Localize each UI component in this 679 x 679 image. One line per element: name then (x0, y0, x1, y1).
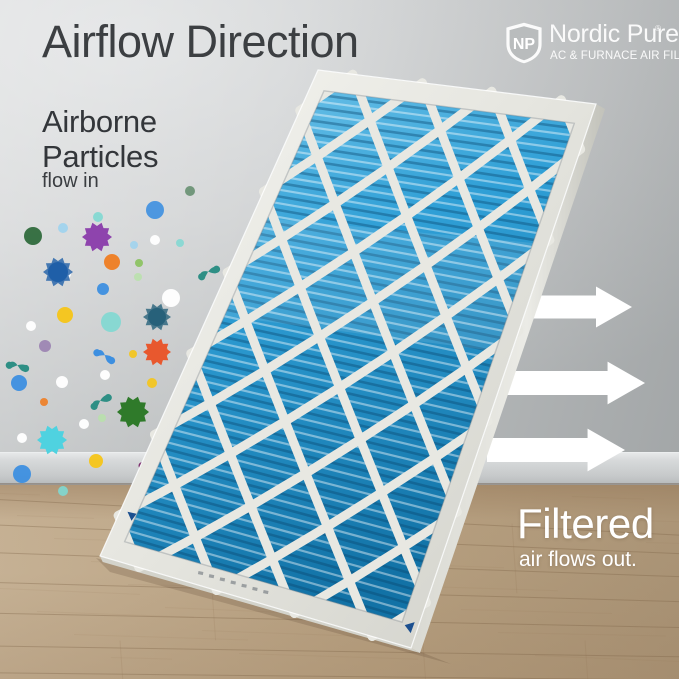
airborne-particles-line1: Airborne (42, 104, 158, 139)
spiky-germ (80, 220, 114, 254)
particle-dot (79, 419, 89, 429)
particle-dot (134, 273, 142, 281)
particle-dot (98, 414, 106, 422)
airflow-arrow (520, 282, 632, 332)
particle-dot (135, 259, 143, 267)
particle-dot (40, 398, 48, 406)
particle-dot (101, 312, 121, 332)
particle-dot (39, 340, 51, 352)
spiky-germ (141, 336, 173, 368)
svg-text:NP: NP (513, 36, 536, 53)
airborne-particles-line2: Particles (42, 139, 158, 174)
particle-dot (58, 486, 68, 496)
particle-dot (24, 227, 42, 245)
particle-dot (146, 201, 164, 219)
particle-dot (100, 370, 110, 380)
filtered-label: Filtered (517, 500, 654, 548)
airflow-arrow (487, 424, 625, 476)
particle-dot (89, 454, 103, 468)
registered-mark-icon: ® (655, 24, 661, 33)
particle-dot (104, 254, 120, 270)
shield-icon: NP (505, 22, 543, 64)
particle-dot (17, 433, 27, 443)
particle-dot (130, 241, 138, 249)
particle-dot (58, 223, 68, 233)
brand-logo: NP Nordic Pure ® AC & FURNACE AIR FILTER… (505, 22, 665, 66)
particle-dot (56, 376, 68, 388)
fuzzy-germ (141, 301, 173, 333)
particle-dot (57, 307, 73, 323)
particle-dot (185, 186, 195, 196)
particle-dot (11, 375, 27, 391)
airflow-direction-infographic: Airflow Direction Airborne Particles flo… (0, 0, 679, 679)
air-flows-out-label: air flows out. (519, 548, 637, 572)
airborne-particles-label: Airborne Particles (42, 104, 158, 174)
airflow-arrow (495, 357, 645, 409)
particle-dot (150, 235, 160, 245)
fuzzy-germ (41, 255, 75, 289)
particle-dot (129, 350, 137, 358)
page-title: Airflow Direction (42, 16, 359, 68)
particle-dot (176, 239, 184, 247)
particle-dot (26, 321, 36, 331)
spiky-germ (35, 423, 69, 457)
particle-dot (13, 465, 31, 483)
particle-dot (147, 378, 157, 388)
spiky-germ (115, 394, 151, 430)
particle-dot (97, 283, 109, 295)
flow-in-label: flow in (42, 170, 99, 193)
brand-tagline: AC & FURNACE AIR FILTERS (550, 50, 679, 62)
